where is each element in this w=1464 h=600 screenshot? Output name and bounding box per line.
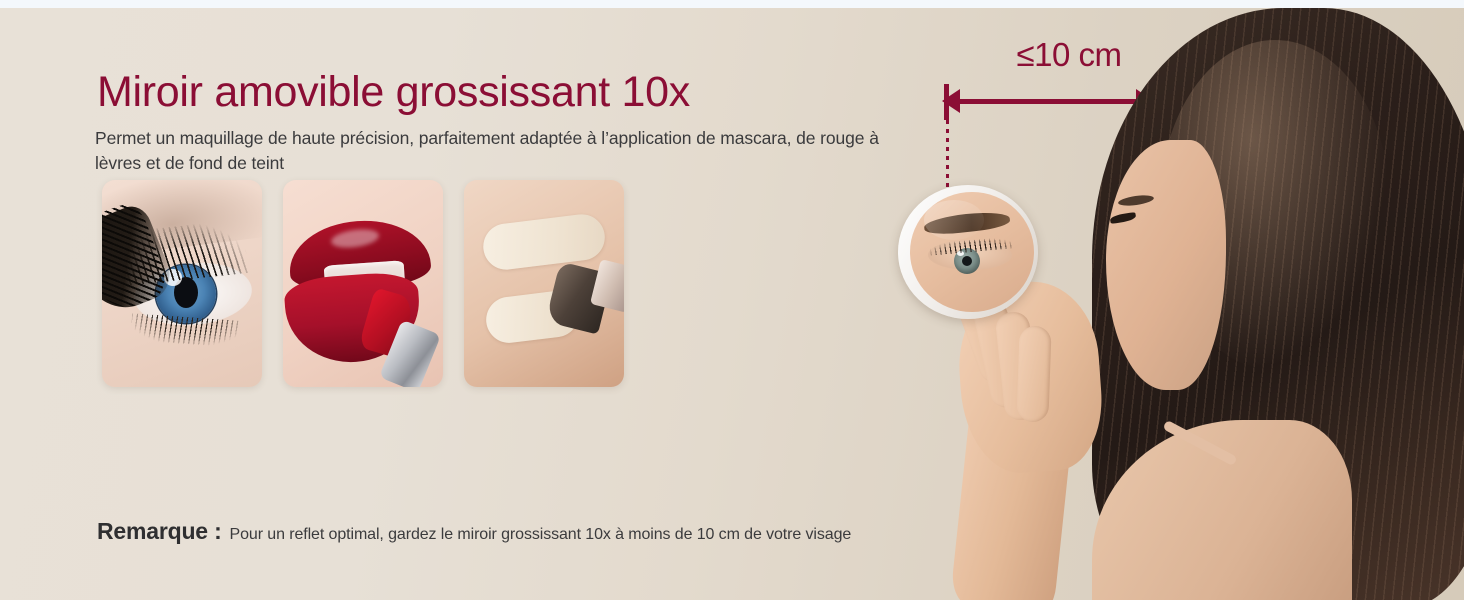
eye-mascara-image [102, 180, 262, 387]
thumbnail-gallery [102, 180, 624, 387]
thumbnail-lips-lipstick[interactable] [283, 180, 443, 387]
reflected-pupil-shape [962, 256, 972, 266]
note-label: Remarque : [97, 518, 222, 545]
model-photo [860, 0, 1464, 600]
page-title: Miroir amovible grossissant 10x [97, 65, 690, 119]
finger-shape [1016, 325, 1051, 422]
thumbnail-foundation-brush[interactable] [464, 180, 624, 387]
foundation-brush-image [464, 180, 624, 387]
lips-lipstick-image [283, 180, 443, 387]
mirror-glass [910, 192, 1034, 312]
mirror-glass-sheen [924, 200, 984, 240]
makeup-brush-ferrule-shape [590, 259, 624, 312]
face-profile-shape [1106, 140, 1226, 390]
note-line: Remarque : Pour un reflet optimal, garde… [97, 518, 851, 545]
magnifying-mirror[interactable] [898, 185, 1038, 319]
description-text: Permet un maquillage de haute précision,… [95, 126, 885, 176]
note-text: Pour un reflet optimal, gardez le miroir… [230, 526, 852, 544]
thumbnail-eye-mascara[interactable] [102, 180, 262, 387]
product-feature-banner: Miroir amovible grossissant 10x Permet u… [0, 0, 1464, 600]
foundation-swatch-upper [481, 212, 607, 272]
